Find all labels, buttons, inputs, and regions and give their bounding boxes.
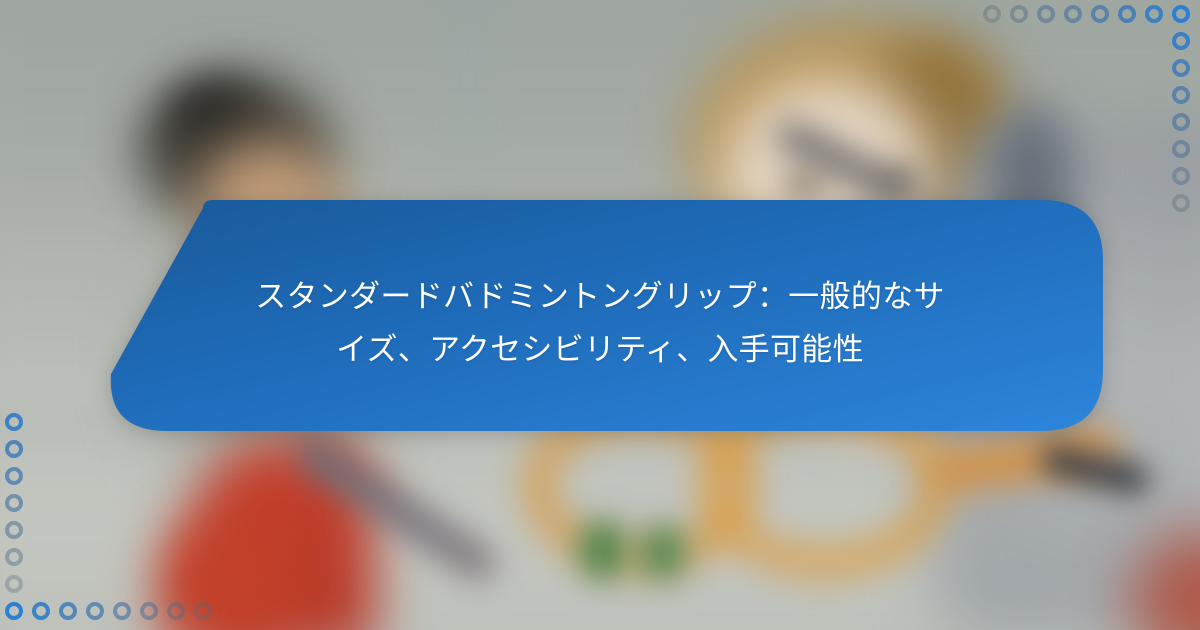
decorative-dot bbox=[983, 5, 1001, 23]
decorative-dot bbox=[5, 440, 23, 458]
decorative-dot bbox=[5, 602, 23, 620]
decorative-dot bbox=[1010, 5, 1028, 23]
decorative-dot bbox=[140, 602, 158, 620]
decorative-dot bbox=[5, 494, 23, 512]
decorative-dot bbox=[1172, 140, 1190, 158]
decorative-dot bbox=[194, 602, 212, 620]
decorative-dot bbox=[1172, 59, 1190, 77]
decorative-dot bbox=[1064, 5, 1082, 23]
decorative-dot bbox=[1172, 113, 1190, 131]
decorative-dot bbox=[5, 575, 23, 593]
decorative-dot bbox=[5, 467, 23, 485]
decorative-dot bbox=[1118, 5, 1136, 23]
decorative-dot bbox=[59, 602, 77, 620]
decorative-dot bbox=[113, 602, 131, 620]
decorative-dots-bottom-left bbox=[0, 400, 240, 630]
decorative-dot bbox=[5, 413, 23, 431]
decorative-dot bbox=[1172, 86, 1190, 104]
decorative-dot bbox=[1037, 5, 1055, 23]
decorative-dots-top-right bbox=[960, 0, 1200, 230]
decorative-dot bbox=[1172, 194, 1190, 212]
page-title: スタンダードバドミントングリップ：一般的なサ イズ、アクセシビリティ、入手可能性 bbox=[190, 270, 1010, 377]
decorative-dot bbox=[32, 602, 50, 620]
decorative-dot bbox=[1172, 167, 1190, 185]
decorative-dot bbox=[5, 521, 23, 539]
decorative-dot bbox=[86, 602, 104, 620]
decorative-dot bbox=[167, 602, 185, 620]
decorative-dot bbox=[5, 548, 23, 566]
decorative-dot bbox=[1172, 32, 1190, 50]
decorative-dot bbox=[1172, 5, 1190, 23]
decorative-dot bbox=[1145, 5, 1163, 23]
decorative-dot bbox=[1091, 5, 1109, 23]
